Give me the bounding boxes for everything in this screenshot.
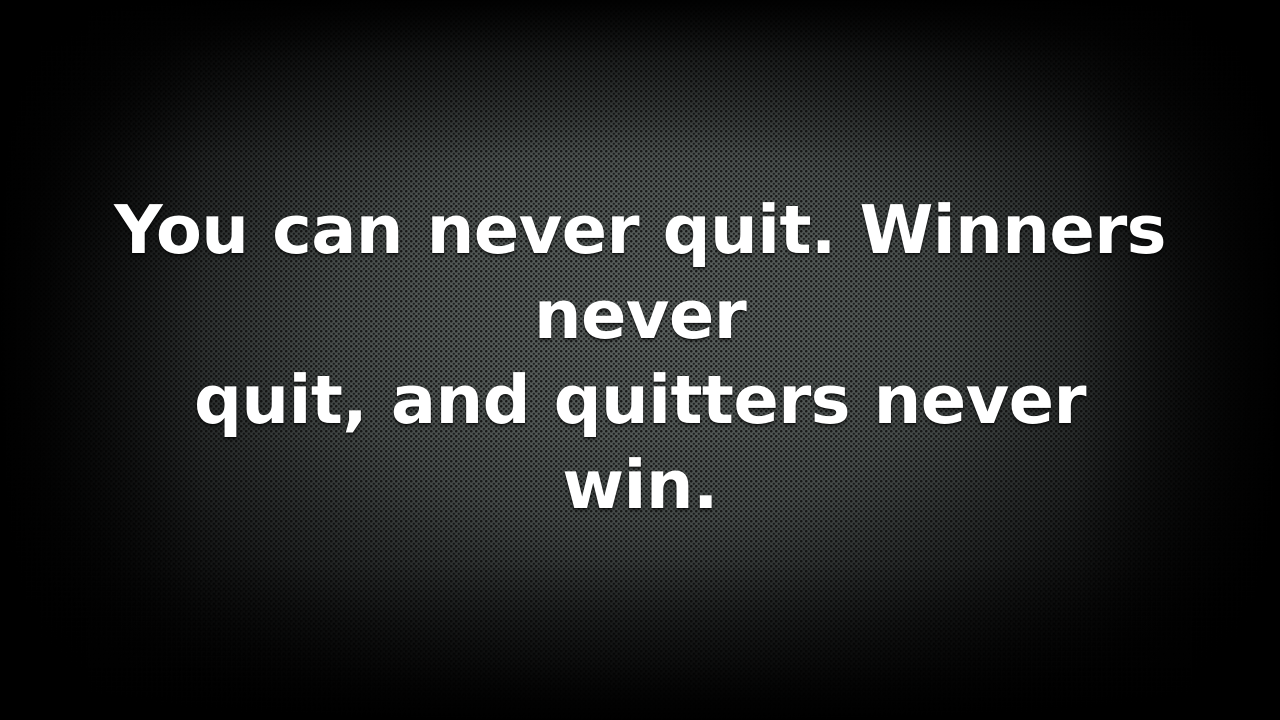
quote-container: You can never quit. Winners neverquit, a… <box>0 0 1280 718</box>
quote-line: quit, and quitters never win. <box>194 361 1086 524</box>
quote-text: You can never quit. Winners neverquit, a… <box>110 188 1170 528</box>
quote-line: You can never quit. Winners never <box>114 191 1166 354</box>
quote-card: You can never quit. Winners neverquit, a… <box>0 0 1280 720</box>
